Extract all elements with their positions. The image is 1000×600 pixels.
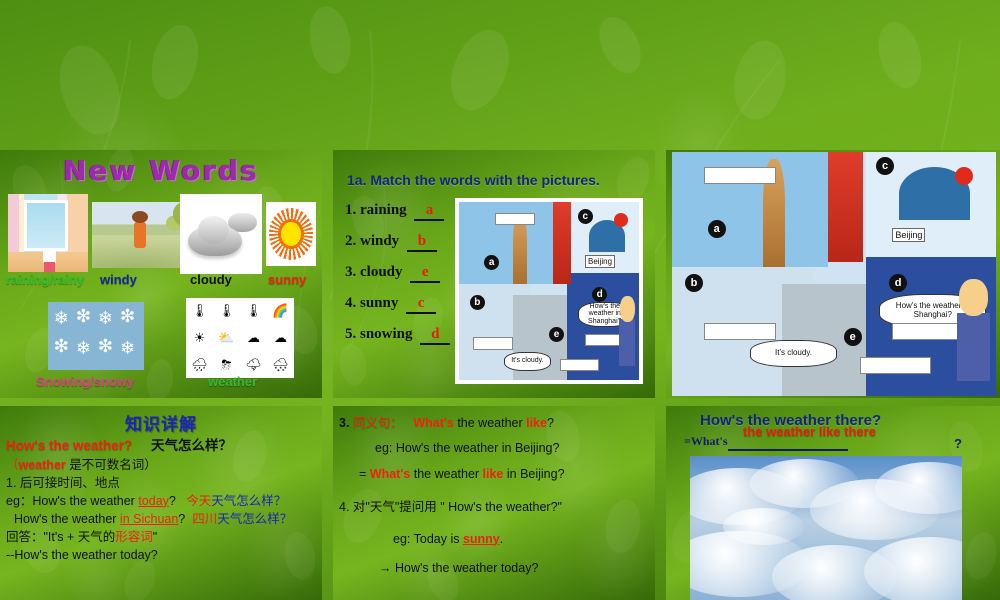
list-item[interactable]: 4. sunny c xyxy=(345,295,465,314)
sky-with-clouds-photo xyxy=(690,456,962,600)
line6-highlight: 形容词 xyxy=(115,530,153,544)
knowledge-line-1: How's the weather? 天气怎么样？ xyxy=(6,436,316,456)
item-word: sunny xyxy=(360,295,398,311)
synonym-line-2: eg: How's the weather in Beijing? xyxy=(339,439,649,458)
cloud-icon: ☁ xyxy=(274,330,287,346)
grid-gutter xyxy=(333,398,655,406)
synonym-line-3: = What's the weather like in Beijing? xyxy=(339,465,649,484)
knowledge-line-4: eg：How's the weather today? 今天天气怎么样？ xyxy=(6,492,316,510)
line5-suffix: . xyxy=(500,532,503,546)
line5-highlight: sunny xyxy=(463,532,500,546)
item-answer: d xyxy=(420,326,450,345)
synonym-line-1: 3. 同义句： What's the weather like? xyxy=(339,414,649,433)
weather-scene: a b c d e Beijing How's the weather in S… xyxy=(459,202,639,380)
slide-knowledge-detail[interactable]: 知识详解 How's the weather? 天气怎么样？ （weather … xyxy=(0,406,322,600)
knowledge-line-7: --How's the weather today? xyxy=(6,546,316,564)
line5-suffix: ? xyxy=(178,512,185,526)
line2-keyword: weather xyxy=(19,458,66,472)
lightning-cloud-icon: 🌩 xyxy=(245,357,262,373)
sun-behind-cloud-icon: ⛅ xyxy=(218,330,234,346)
word-label-sunny: sunny xyxy=(268,272,306,287)
line4-suffix: ? xyxy=(169,494,176,508)
thermometer-icon: 🌡 xyxy=(245,303,262,319)
line6-prefix: 回答："It's + 天气的 xyxy=(6,530,115,544)
weather-icons-grid: 🌡 🌡 🌡 🌈 ☀ ⛅ ☁ ☁ 🌧 ⛈ 🌩 🌨 xyxy=(186,298,294,378)
slide-how-is-weather-there[interactable]: How's the weather there? =What's the wea… xyxy=(666,406,1000,600)
line1-english: How's the weather? xyxy=(6,438,132,453)
slide-new-words[interactable]: New Words ❄❇ ❄❇ ❇❄ ❇❄ xyxy=(0,150,322,398)
scene-letter-c: c xyxy=(578,209,593,224)
line6-suffix: " xyxy=(153,530,157,544)
scene-letter-c: c xyxy=(876,157,894,175)
prompt-text: =What's xyxy=(684,434,728,448)
line5-prefix: eg: Today is xyxy=(393,532,463,546)
snowflake-picture: ❄❇ ❄❇ ❇❄ ❇❄ xyxy=(48,302,144,370)
slide-title-new-words: New Words xyxy=(0,154,322,187)
thermometer-icon: 🌡 xyxy=(218,303,235,319)
grid-gutter xyxy=(655,398,666,406)
line1-highlight-like: like xyxy=(526,416,547,430)
line5-highlight: in Sichuan xyxy=(120,512,178,526)
knowledge-line-6: 回答："It's + 天气的形容词" xyxy=(6,528,316,546)
line1-chinese: 天气怎么样？ xyxy=(151,438,232,453)
item-answer: c xyxy=(406,295,436,314)
rain-picture xyxy=(8,194,88,272)
slide-title-knowledge: 知识详解 xyxy=(6,410,316,435)
list-item[interactable]: 1. raining a xyxy=(345,202,465,221)
item-word: windy xyxy=(360,233,399,249)
question-mark: ? xyxy=(954,436,962,451)
line1-middle: the weather xyxy=(454,416,526,430)
grid-gutter xyxy=(0,398,322,406)
word-label-raining: raining/rainy xyxy=(6,272,84,287)
line3-end: in Beijing? xyxy=(503,467,564,481)
item-number: 4. xyxy=(345,295,356,311)
cloud-picture xyxy=(180,194,262,274)
grid-gutter xyxy=(322,406,333,600)
weather-there-answer: the weather like there xyxy=(743,424,876,439)
scene-city-label: Beijing xyxy=(585,255,615,268)
thermometer-icon: 🌡 xyxy=(191,303,208,319)
list-item[interactable]: 5. snowing d xyxy=(345,326,465,345)
line5-chinese: 天气怎么样？ xyxy=(217,512,292,526)
slide-synonym-sentences[interactable]: 3. 同义句： What's the weather like? eg: How… xyxy=(333,406,655,600)
scene-letter-b: b xyxy=(685,274,703,292)
line5-prefix: How's the weather xyxy=(14,512,120,526)
line4-highlight: today xyxy=(138,494,169,508)
word-label-windy: windy xyxy=(100,272,137,287)
synonym-body: 3. 同义句： What's the weather like? eg: How… xyxy=(333,406,655,600)
item-number: 1. xyxy=(345,202,356,218)
synonym-line-5: eg: Today is sunny. xyxy=(339,530,649,549)
item-word: cloudy xyxy=(360,264,403,280)
cloud-icon: ☁ xyxy=(247,330,260,346)
sun-icon: ☀ xyxy=(194,330,206,346)
item-answer: b xyxy=(407,233,437,252)
line4-prefix: eg：How's the weather xyxy=(6,494,138,508)
slide-title-match: 1a. Match the words with the pictures. xyxy=(347,172,600,188)
scene-letter-d: d xyxy=(889,274,907,292)
item-number: 3. xyxy=(345,264,356,280)
word-label-snowing: Snowing/snowy xyxy=(36,374,134,389)
grid-gutter xyxy=(322,398,333,406)
grid-gutter xyxy=(655,150,666,398)
line3-middle: the weather xyxy=(410,467,482,481)
line5-chinese-highlight: 四川 xyxy=(192,512,217,526)
list-item[interactable]: 2. windy b xyxy=(345,233,465,252)
rainbow-icon: 🌈 xyxy=(272,303,288,319)
scene-letter-e: e xyxy=(549,327,564,342)
scene-bubble-answer: It's cloudy. xyxy=(750,340,837,367)
scene-letter-e: e xyxy=(844,328,862,346)
line3-highlight-like: like xyxy=(483,467,504,481)
line2-open-paren: （ xyxy=(6,458,19,472)
slide-scene-large[interactable]: a b c d e Beijing How's the weather in S… xyxy=(666,150,1000,398)
knowledge-line-2: （weather 是不可数名词） xyxy=(6,456,316,474)
synonym-line-4: 4. 对"天气"提问用 " How's the weather?" xyxy=(339,498,649,517)
line2-chinese: 是不可数名词） xyxy=(66,458,157,472)
weather-scene: a b c d e Beijing How's the weather in S… xyxy=(672,152,996,396)
item-word: raining xyxy=(360,202,407,218)
rain-cloud-icon: 🌧 xyxy=(191,357,208,373)
slide-thumbnail-grid: New Words ❄❇ ❄❇ ❇❄ ❇❄ xyxy=(0,150,1000,600)
synonym-line-6: → How's the weather today? xyxy=(339,559,649,578)
sun-picture xyxy=(266,202,316,266)
scene-large-picture: a b c d e Beijing How's the weather in S… xyxy=(666,150,1000,398)
item-answer: e xyxy=(410,264,440,283)
line1-chinese-label: 同义句： xyxy=(353,416,403,430)
knowledge-line-3: 1. 后可接时间、地点 xyxy=(6,474,316,492)
knowledge-line-5: How's the weather in Sichuan? 四川天气怎么样？ xyxy=(6,510,316,528)
line1-highlight-whats: What's xyxy=(413,416,453,430)
line1-end: ? xyxy=(547,416,554,430)
scene-letter-a: a xyxy=(708,220,726,238)
line3-highlight-whats: What's xyxy=(370,467,410,481)
snow-cloud-icon: 🌨 xyxy=(272,357,289,373)
item-word: snowing xyxy=(360,326,413,342)
slide-match-words[interactable]: 1a. Match the words with the pictures. 1… xyxy=(333,150,655,398)
scene-bubble-answer: It's cloudy. xyxy=(504,352,551,372)
knowledge-detail-body: 知识详解 How's the weather? 天气怎么样？ （weather … xyxy=(0,406,322,600)
line4-chinese: 天气怎么样？ xyxy=(211,494,286,508)
word-label-cloudy: cloudy xyxy=(190,272,232,287)
item-answer: a xyxy=(414,202,444,221)
word-label-weather: weather xyxy=(208,374,257,389)
match-word-list: 1. raining a 2. windy b 3. cloudy e 4. s… xyxy=(345,202,465,357)
line3-equals: = xyxy=(359,467,370,481)
grid-gutter xyxy=(655,406,666,600)
grid-gutter xyxy=(322,150,333,398)
item-number: 2. xyxy=(345,233,356,249)
scene-city-label: Beijing xyxy=(892,228,925,242)
item-number: 5. xyxy=(345,326,356,342)
list-item[interactable]: 3. cloudy e xyxy=(345,264,465,283)
match-scene-picture: a b c d e Beijing How's the weather in S… xyxy=(455,198,643,384)
line1-number: 3. xyxy=(339,416,349,430)
grid-gutter xyxy=(666,398,1000,406)
line4-chinese-highlight: 今天 xyxy=(186,494,211,508)
storm-cloud-icon: ⛈ xyxy=(221,357,231,373)
scene-letter-b: b xyxy=(470,295,485,310)
